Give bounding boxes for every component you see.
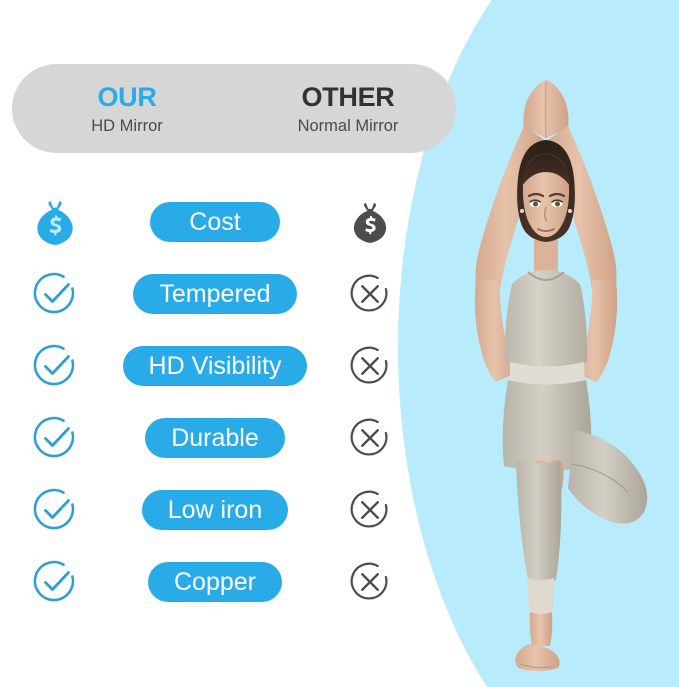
row-right-icon-cell — [320, 489, 420, 531]
header-title-ours: OUR — [34, 81, 220, 113]
money-bag-icon — [33, 199, 77, 245]
row-label-cell: Durable — [110, 418, 320, 458]
row-right-icon-cell — [320, 273, 420, 315]
x-circle-icon — [349, 561, 391, 603]
row-label-cell: Cost — [110, 202, 320, 242]
feature-pill[interactable]: Low iron — [142, 490, 289, 530]
row-label-cell: Low iron — [110, 490, 320, 530]
row-label-cell: Tempered — [110, 274, 320, 314]
row-left-icon-cell — [0, 415, 110, 461]
check-circle-icon — [32, 415, 78, 461]
row-label-cell: HD Visibility — [110, 346, 320, 386]
check-circle-icon — [32, 487, 78, 533]
row-left-icon-cell — [0, 343, 110, 389]
x-circle-icon — [349, 417, 391, 459]
infographic-canvas: OUR HD Mirror OTHER Normal Mirror Cost — [0, 0, 679, 687]
header-column-other: OTHER Normal Mirror — [250, 81, 446, 137]
comparison-row: Copper — [0, 546, 420, 618]
row-right-icon-cell — [320, 201, 420, 243]
comparison-row: HD Visibility — [0, 330, 420, 402]
money-bag-icon — [350, 201, 390, 243]
check-circle-icon — [32, 343, 78, 389]
check-circle-icon — [32, 559, 78, 605]
comparison-row: Low iron — [0, 474, 420, 546]
x-circle-icon — [349, 273, 391, 315]
row-left-icon-cell — [0, 271, 110, 317]
feature-pill[interactable]: HD Visibility — [123, 346, 308, 386]
feature-pill[interactable]: Tempered — [133, 274, 296, 314]
hero-photo-yoga-woman — [424, 74, 679, 674]
row-right-icon-cell — [320, 345, 420, 387]
comparison-row: Durable — [0, 402, 420, 474]
comparison-row: Cost — [0, 186, 420, 258]
header-subtitle-ours: HD Mirror — [34, 115, 220, 137]
row-label-cell: Copper — [110, 562, 320, 602]
header-column-ours: OUR HD Mirror — [34, 81, 220, 137]
comparison-rows: Cost Tempered — [0, 186, 420, 618]
header-title-other: OTHER — [250, 81, 446, 113]
row-left-icon-cell — [0, 199, 110, 245]
comparison-header-bar: OUR HD Mirror OTHER Normal Mirror — [12, 64, 456, 153]
feature-pill[interactable]: Cost — [150, 202, 280, 242]
feature-pill[interactable]: Durable — [145, 418, 285, 458]
row-left-icon-cell — [0, 487, 110, 533]
check-circle-icon — [32, 271, 78, 317]
feature-pill[interactable]: Copper — [148, 562, 282, 602]
header-subtitle-other: Normal Mirror — [250, 115, 446, 137]
row-left-icon-cell — [0, 559, 110, 605]
x-circle-icon — [349, 345, 391, 387]
x-circle-icon — [349, 489, 391, 531]
comparison-row: Tempered — [0, 258, 420, 330]
row-right-icon-cell — [320, 561, 420, 603]
row-right-icon-cell — [320, 417, 420, 459]
